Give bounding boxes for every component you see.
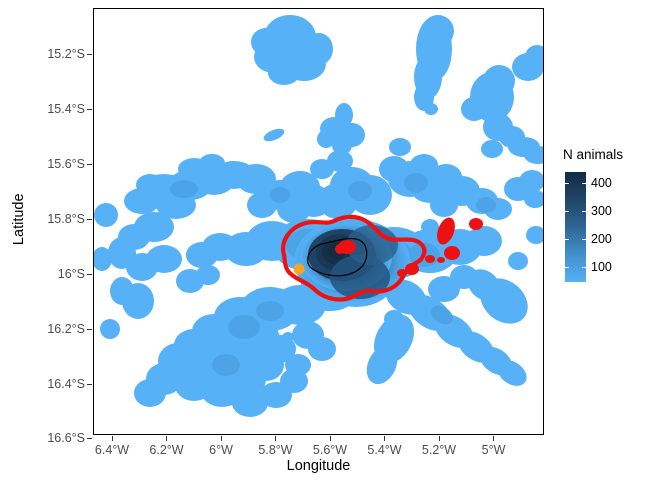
x-tickmark-6 [439, 436, 440, 441]
y-tickmark-1 [87, 109, 92, 110]
legend-value-2: 200 [591, 233, 612, 246]
y-tick-label-5: 16.2°S [15, 323, 85, 336]
low-density-blobs [94, 15, 544, 417]
y-tick-label-0: 15.2°S [15, 48, 85, 61]
legend-value-3: 100 [591, 261, 612, 274]
y-tick-label-7: 16.6°S [15, 432, 85, 445]
x-tickmark-4 [330, 436, 331, 441]
y-tick-label-4: 16°S [15, 268, 85, 281]
y-axis-title: Latitude [12, 174, 27, 264]
x-tickmark-7 [493, 436, 494, 441]
x-tickmark-1 [166, 436, 167, 441]
y-tickmark-6 [87, 384, 92, 385]
orange-point-marker [294, 264, 305, 275]
y-tickmark-7 [87, 438, 92, 439]
x-tickmark-5 [384, 436, 385, 441]
figure-root: 15.2°S 15.4°S 15.6°S 15.8°S 16°S 16.2°S … [0, 0, 672, 480]
x-tick-label-7: 5°W [459, 444, 529, 457]
x-tickmark-3 [275, 436, 276, 441]
legend-value-1: 300 [591, 205, 612, 218]
legend-tickmark-right-2 [582, 239, 586, 240]
density-surface [94, 9, 543, 434]
map-panel [93, 8, 544, 435]
legend-tickmark-left-3 [565, 267, 569, 268]
y-tickmark-3 [87, 219, 92, 220]
legend-tickmark-right-3 [582, 267, 586, 268]
legend-tickmark-left-2 [565, 239, 569, 240]
legend-tickmark-left-0 [565, 183, 569, 184]
y-tick-label-2: 15.6°S [15, 158, 85, 171]
legend-tickmark-right-1 [582, 211, 586, 212]
y-tickmark-5 [87, 329, 92, 330]
legend-tickmark-left-1 [565, 211, 569, 212]
x-tickmark-2 [221, 436, 222, 441]
y-tick-label-6: 16.4°S [15, 378, 85, 391]
density-svg [94, 9, 544, 435]
y-tickmark-0 [87, 54, 92, 55]
y-tickmark-4 [87, 274, 92, 275]
x-tickmark-0 [112, 436, 113, 441]
x-axis-title: Longitude [0, 459, 637, 474]
density-core [294, 219, 410, 303]
legend-tickmark-right-0 [582, 183, 586, 184]
y-tick-label-1: 15.4°S [15, 103, 85, 116]
y-tickmark-2 [87, 164, 92, 165]
legend-colorbar [565, 172, 586, 282]
legend-title: N animals [563, 148, 623, 162]
legend-value-0: 400 [591, 177, 612, 190]
